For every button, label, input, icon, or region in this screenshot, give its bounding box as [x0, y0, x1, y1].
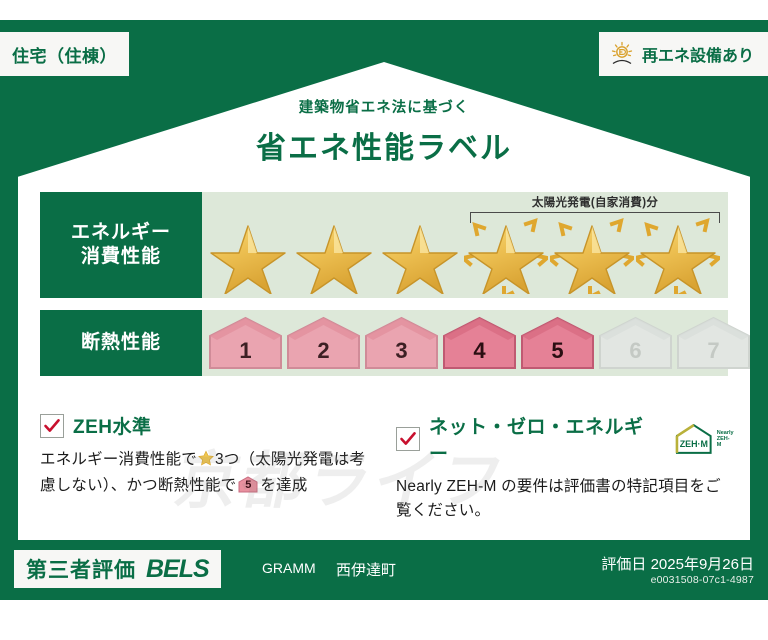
insulation-grade-5: 5 — [520, 316, 595, 370]
zeh-m-logo: ZEH·M Nearly ZEH-M — [673, 422, 734, 456]
energy-performance-label: 住宅（住棟） 再エネ設備あり 建築 — [0, 0, 768, 640]
insulation-grade-value: 2 — [317, 338, 329, 370]
insulation-grade-4: 4 — [442, 316, 517, 370]
building-type-label: 住宅（住棟） — [12, 42, 117, 67]
footer-town: 西伊達町 — [336, 559, 396, 580]
checkbox-checked-icon — [40, 414, 64, 438]
inline-grade-value: 5 — [238, 476, 258, 493]
criterion-zeh-standard: ZEH水準 エネルギー消費性能で3つ（太陽光発電は考慮しない）、かつ断熱性能で5… — [40, 412, 378, 523]
criterion-zeh-text-3: を達成 — [260, 477, 307, 494]
bels-jp-label: 第三者評価 — [26, 554, 136, 584]
criterion-nze-header: ネット・ゼロ・エネルギー ZEH·M Nearly ZEH-M — [396, 412, 734, 466]
energy-row-body: 太陽光発電(自家消費)分 — [202, 192, 728, 298]
label-footer: 第三者評価 BELS GRAMM 西伊達町 評価日 2025年9月26日 e00… — [0, 546, 768, 600]
criterion-nze-body: Nearly ZEH-M の要件は評価書の特記項目をご覧ください。 — [396, 475, 734, 523]
inline-grade-badge: 5 — [238, 476, 258, 493]
star-base — [206, 212, 290, 294]
star-solar — [464, 212, 548, 294]
insulation-grade-6: 6 — [598, 316, 673, 370]
title-main: 省エネ性能ラベル — [0, 123, 768, 167]
star-solar — [550, 212, 634, 294]
energy-star-rating — [206, 212, 720, 294]
title-subtitle: 建築物省エネ法に基づく — [0, 96, 768, 117]
zeh-m-caption-line2: ZEH-M — [717, 436, 730, 448]
inline-star-icon — [198, 450, 214, 474]
renewable-equipment-badge: 再エネ設備あり — [599, 32, 768, 76]
criteria-section: ZEH水準 エネルギー消費性能で3つ（太陽光発電は考慮しない）、かつ断熱性能で5… — [40, 412, 734, 523]
insulation-grade-value: 7 — [707, 338, 719, 370]
insulation-grade-7: 7 — [676, 316, 751, 370]
insulation-grade-1: 1 — [208, 316, 283, 370]
footer-evaluation-date: 評価日 2025年9月26日 — [601, 553, 754, 574]
energy-row-label: エネルギー 消費性能 — [40, 192, 202, 298]
criterion-net-zero-energy: ネット・ゼロ・エネルギー ZEH·M Nearly ZEH-M Nearly Z… — [396, 412, 734, 523]
insulation-grade-scale: 1234567 — [208, 316, 751, 370]
building-type-badge: 住宅（住棟） — [0, 32, 129, 76]
energy-row-label-line2: 消費性能 — [81, 245, 161, 269]
star-base — [378, 212, 462, 294]
insulation-grade-value: 1 — [239, 338, 251, 370]
solar-note-text: 太陽光発電(自家消費)分 — [470, 194, 720, 210]
energy-performance-row: エネルギー 消費性能 太陽光発電(自家消費)分 — [40, 192, 728, 298]
bels-en-label: BELS — [146, 555, 209, 584]
insulation-performance-row: 断熱性能 1234567 — [40, 310, 728, 376]
insulation-grade-2: 2 — [286, 316, 361, 370]
criterion-zeh-title: ZEH水準 — [73, 412, 152, 439]
criterion-zeh-text-1: エネルギー消費性能で — [40, 451, 197, 468]
criterion-zeh-body: エネルギー消費性能で3つ（太陽光発電は考慮しない）、かつ断熱性能で5を達成 — [40, 448, 378, 498]
insulation-grade-value: 5 — [551, 338, 563, 370]
svg-text:ZEH·M: ZEH·M — [680, 439, 708, 449]
criterion-zeh-header: ZEH水準 — [40, 412, 378, 439]
criterion-nze-title: ネット・ゼロ・エネルギー — [429, 412, 658, 466]
insulation-row-label: 断熱性能 — [40, 310, 202, 376]
renewable-equipment-label: 再エネ設備あり — [642, 42, 754, 66]
bels-certification-badge: 第三者評価 BELS — [14, 550, 221, 588]
insulation-grade-value: 6 — [629, 338, 641, 370]
zeh-m-logo-caption: Nearly ZEH-M — [717, 430, 734, 449]
star-solar — [636, 212, 720, 294]
label-title-block: 建築物省エネ法に基づく 省エネ性能ラベル — [0, 96, 768, 167]
insulation-row-label-text: 断熱性能 — [81, 331, 161, 355]
zeh-m-caption-line1: Nearly — [717, 430, 734, 436]
insulation-grade-value: 4 — [473, 338, 485, 370]
star-base — [292, 212, 376, 294]
footer-organization: GRAMM — [262, 560, 316, 576]
footer-certificate-id: e0031508-07c1-4987 — [651, 574, 754, 586]
insulation-grade-3: 3 — [364, 316, 439, 370]
rating-rows: エネルギー 消費性能 太陽光発電(自家消費)分 断熱性能 1234567 — [40, 192, 728, 388]
insulation-grade-value: 3 — [395, 338, 407, 370]
insulation-row-body: 1234567 — [202, 310, 728, 376]
checkbox-checked-icon — [396, 427, 420, 451]
sun-solar-icon — [609, 41, 635, 67]
energy-row-label-line1: エネルギー — [71, 221, 171, 245]
